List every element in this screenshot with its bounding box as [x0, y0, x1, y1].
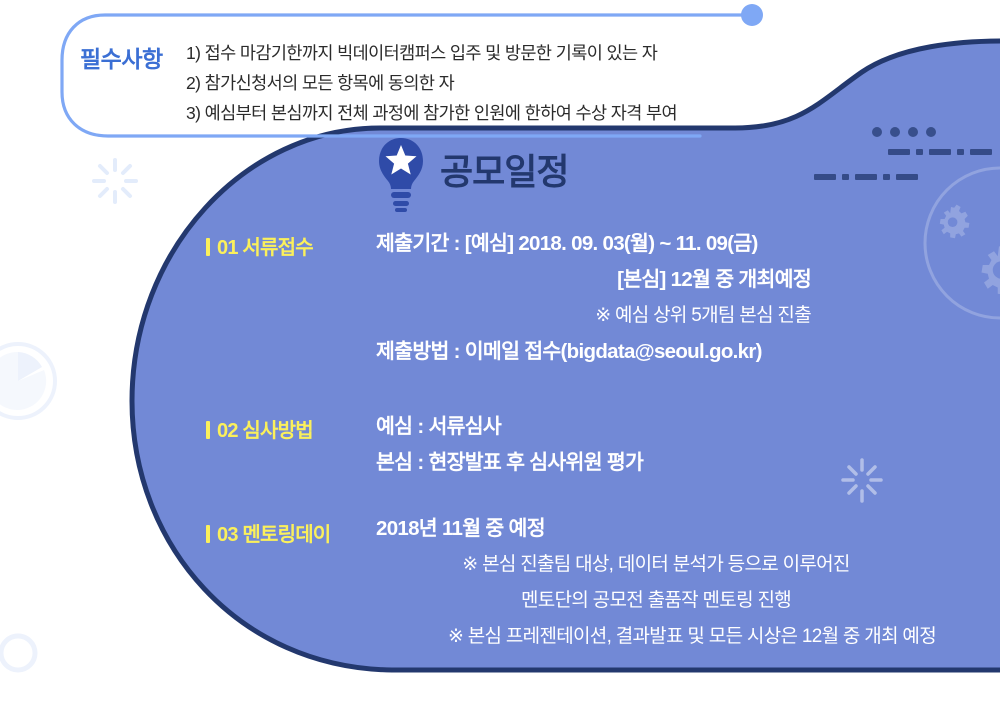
bar-marker-icon: [206, 238, 210, 256]
schedule-01-line-3: ※ 예심 상위 5개팀 본심 진출: [376, 298, 811, 334]
schedule-03-line-3: 멘토단의 공모전 출품작 멘토링 진행: [376, 583, 936, 619]
schedule-body-01: 제출기간 : [예심] 2018. 09. 03(월) ~ 11. 09(금) …: [376, 226, 811, 370]
schedule-03-line-2: ※ 본심 진출팀 대상, 데이터 분석가 등으로 이루어진: [376, 547, 936, 583]
schedule-01-line-2: [본심] 12월 중 개최예정: [376, 262, 811, 298]
poster-root: 필수사항 1) 접수 마감기한까지 빅데이터캠퍼스 입주 및 방문한 기록이 있…: [0, 0, 1000, 708]
schedule-02-line-2: 본심 : 현장발표 후 심사위원 평가: [376, 445, 811, 481]
schedule-key-01: 01 서류접수: [206, 231, 313, 260]
schedule-body-02: 예심 : 서류심사 본심 : 현장발표 후 심사위원 평가: [376, 409, 811, 481]
schedule-key-03: 03 멘토링데이: [206, 518, 330, 547]
schedule-03-line-1: 2018년 11월 중 예정: [376, 511, 936, 547]
schedule-01-line-1: 제출기간 : [예심] 2018. 09. 03(월) ~ 11. 09(금): [376, 226, 811, 262]
schedule-01-line-4: 제출방법 : 이메일 접수(bigdata@seoul.go.kr): [376, 334, 811, 370]
schedule-02-line-1: 예심 : 서류심사: [376, 409, 811, 445]
bar-marker-icon: [206, 421, 210, 439]
schedule-key-02: 02 심사방법: [206, 414, 313, 443]
schedule-key-02-label: 02 심사방법: [217, 420, 313, 442]
schedule-03-line-4: ※ 본심 프레젠테이션, 결과발표 및 모든 시상은 12월 중 개최 예정: [376, 619, 936, 655]
schedule-list: 01 서류접수 제출기간 : [예심] 2018. 09. 03(월) ~ 11…: [0, 0, 1000, 708]
bar-marker-icon: [206, 525, 210, 543]
schedule-key-01-label: 01 서류접수: [217, 237, 313, 259]
schedule-body-03: 2018년 11월 중 예정 ※ 본심 진출팀 대상, 데이터 분석가 등으로 …: [376, 511, 936, 655]
schedule-key-03-label: 03 멘토링데이: [217, 524, 330, 546]
